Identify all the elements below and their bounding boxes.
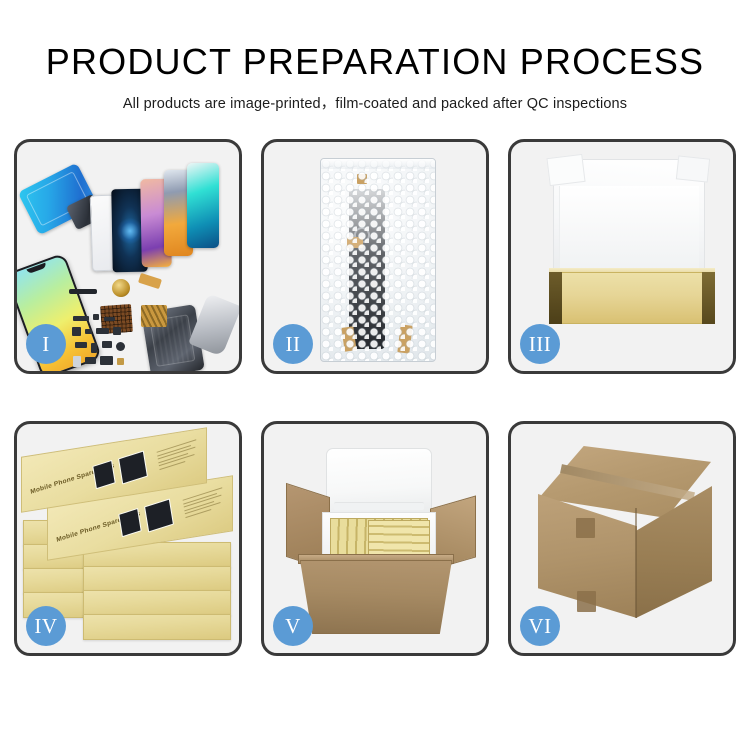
page-header: PRODUCT PREPARATION PROCESS All products…	[0, 0, 750, 113]
page-subtitle: All products are image-printed，film-coat…	[0, 92, 750, 113]
box-left-corner	[549, 272, 562, 324]
box-spec-lines	[183, 486, 230, 520]
kraft-box-slab	[83, 590, 231, 616]
bubble-texture	[321, 159, 435, 361]
bag-seal-seam	[321, 159, 435, 169]
process-step-panel-4: Mobile Phone Spare Parts Mobile Phone Sp…	[14, 421, 242, 656]
box-window-right	[144, 498, 174, 532]
carton-front-face	[300, 560, 452, 634]
step-badge-6: VI	[520, 606, 560, 646]
page-title: PRODUCT PREPARATION PROCESS	[0, 43, 750, 81]
process-step-panel-3: III	[508, 139, 736, 374]
carton-vertical-edge	[635, 508, 637, 618]
process-step-panel-1: I	[14, 139, 242, 374]
styrofoam-lid	[326, 448, 432, 516]
flex-cable-part-b	[141, 305, 167, 327]
process-step-panel-2: II	[261, 139, 489, 374]
product-preparation-page: PRODUCT PREPARATION PROCESS All products…	[0, 0, 750, 750]
retail-boxes-row-front	[368, 520, 430, 558]
foam-inner-face	[559, 186, 699, 272]
step-badge-4: IV	[26, 606, 66, 646]
box-window-right	[118, 450, 148, 484]
box-spec-lines	[157, 438, 204, 472]
step-badge-1: I	[26, 324, 66, 364]
process-step-grid: I II	[14, 139, 736, 681]
phone-screen-teal	[187, 163, 219, 248]
gold-contact-icon	[112, 279, 130, 297]
process-step-panel-5: V	[261, 421, 489, 656]
box-window-left	[92, 460, 116, 489]
box-right-corner	[702, 272, 715, 324]
step-badge-5: V	[273, 606, 313, 646]
step-badge-2: II	[273, 324, 313, 364]
black-strip-part	[69, 289, 97, 294]
flex-cable-part-a	[138, 273, 162, 289]
step-badge-3: III	[520, 324, 560, 364]
small-parts-cluster	[71, 312, 141, 371]
kraft-box-slab	[83, 614, 231, 640]
kraft-box-front	[549, 272, 715, 324]
carton-tab-top	[576, 518, 595, 538]
bubble-wrap-bag	[320, 158, 436, 362]
carton-tab-bottom	[577, 591, 596, 612]
process-step-panel-6: VI	[508, 421, 736, 656]
box-window-left	[118, 508, 142, 537]
kraft-box-slab	[83, 566, 231, 592]
